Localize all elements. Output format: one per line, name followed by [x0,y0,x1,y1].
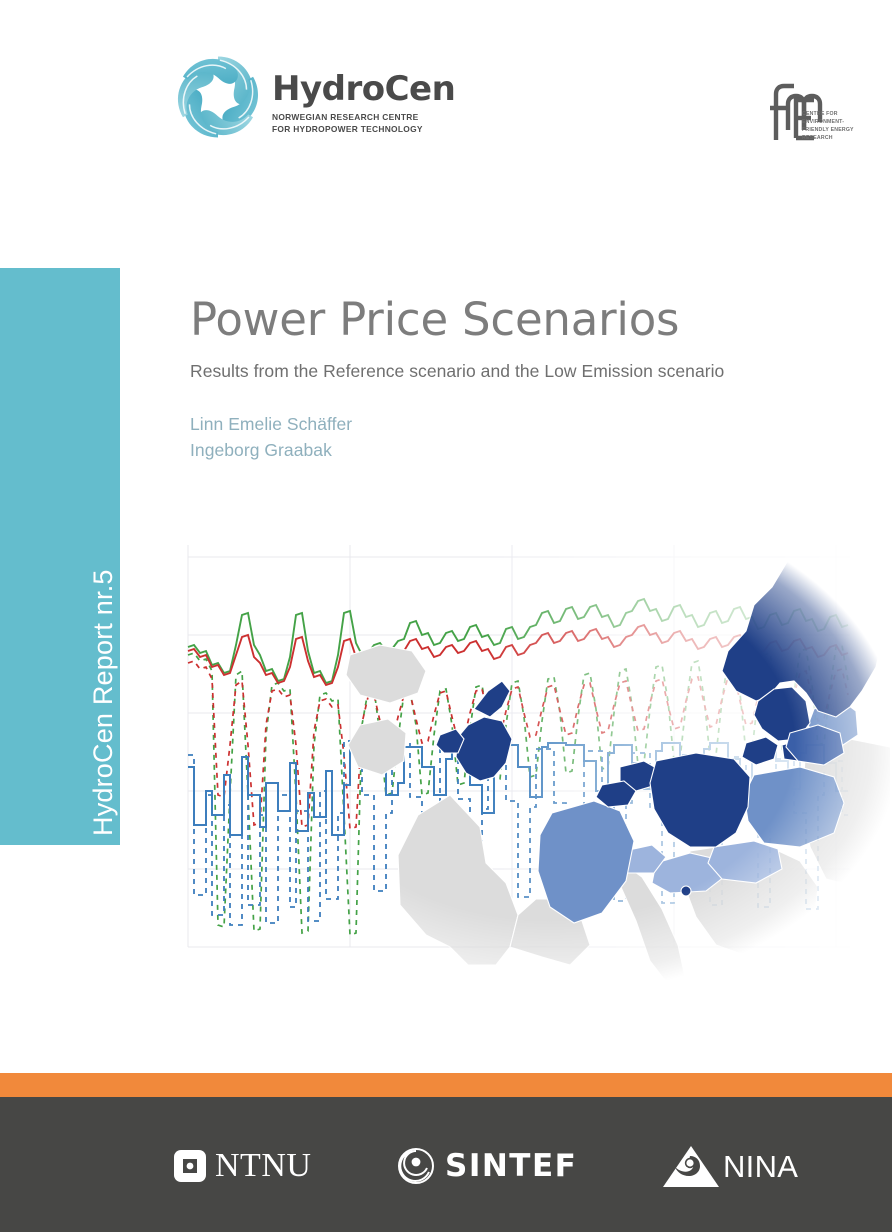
hydrocen-tagline-line1: NORWEGIAN RESEARCH CENTRE [272,112,455,123]
nina-logo: NINA [660,1143,798,1189]
author-name: Linn Emelie Schäffer [190,412,850,438]
hydrocen-wordmark: HydroCen [272,72,455,106]
ntnu-square-icon [172,1148,208,1184]
author-name: Ingeborg Graabak [190,438,850,464]
hydrocen-swirl-icon [172,51,264,151]
fme-tagline: CENTRE FOR ENVIRONMENT- FRIENDLY ENERGY … [802,110,854,142]
europe-map-layer [346,509,890,987]
map-island [681,886,691,896]
page-subtitle: Results from the Reference scenario and … [190,361,850,382]
hydrocen-tagline-line2: FOR HYDROPOWER TECHNOLOGY [272,124,455,135]
nina-wordmark: NINA [723,1151,798,1182]
page-title: Power Price Scenarios [190,296,850,343]
footer-logo-row: NTNU SINTEF NINA [0,1130,892,1202]
fme-logo: CENTRE FOR ENVIRONMENT- FRIENDLY ENERGY … [762,78,862,148]
sintef-wordmark: SINTEF [445,1151,577,1182]
title-block: Power Price Scenarios Results from the R… [190,296,850,463]
cover-illustration [150,495,890,995]
ntnu-logo: NTNU [172,1148,311,1184]
report-side-band: HydroCen Report nr.5 [0,268,120,845]
fme-line-1: CENTRE FOR [802,110,854,118]
orange-divider-bar [0,1073,892,1097]
report-series-label: HydroCen Report nr.5 [88,569,119,836]
ntnu-wordmark: NTNU [215,1149,311,1183]
sintef-logo: SINTEF [396,1146,577,1186]
author-list: Linn Emelie Schäffer Ingeborg Graabak [190,412,850,463]
fme-line-3: FRIENDLY ENERGY [802,126,854,134]
sintef-spiral-icon [396,1146,436,1186]
fme-line-2: ENVIRONMENT- [802,118,854,126]
hydrocen-logo: HydroCen NORWEGIAN RESEARCH CENTRE FOR H… [172,48,402,153]
nina-triangle-icon [660,1143,722,1189]
fme-line-4: RESEARCH [802,134,854,142]
